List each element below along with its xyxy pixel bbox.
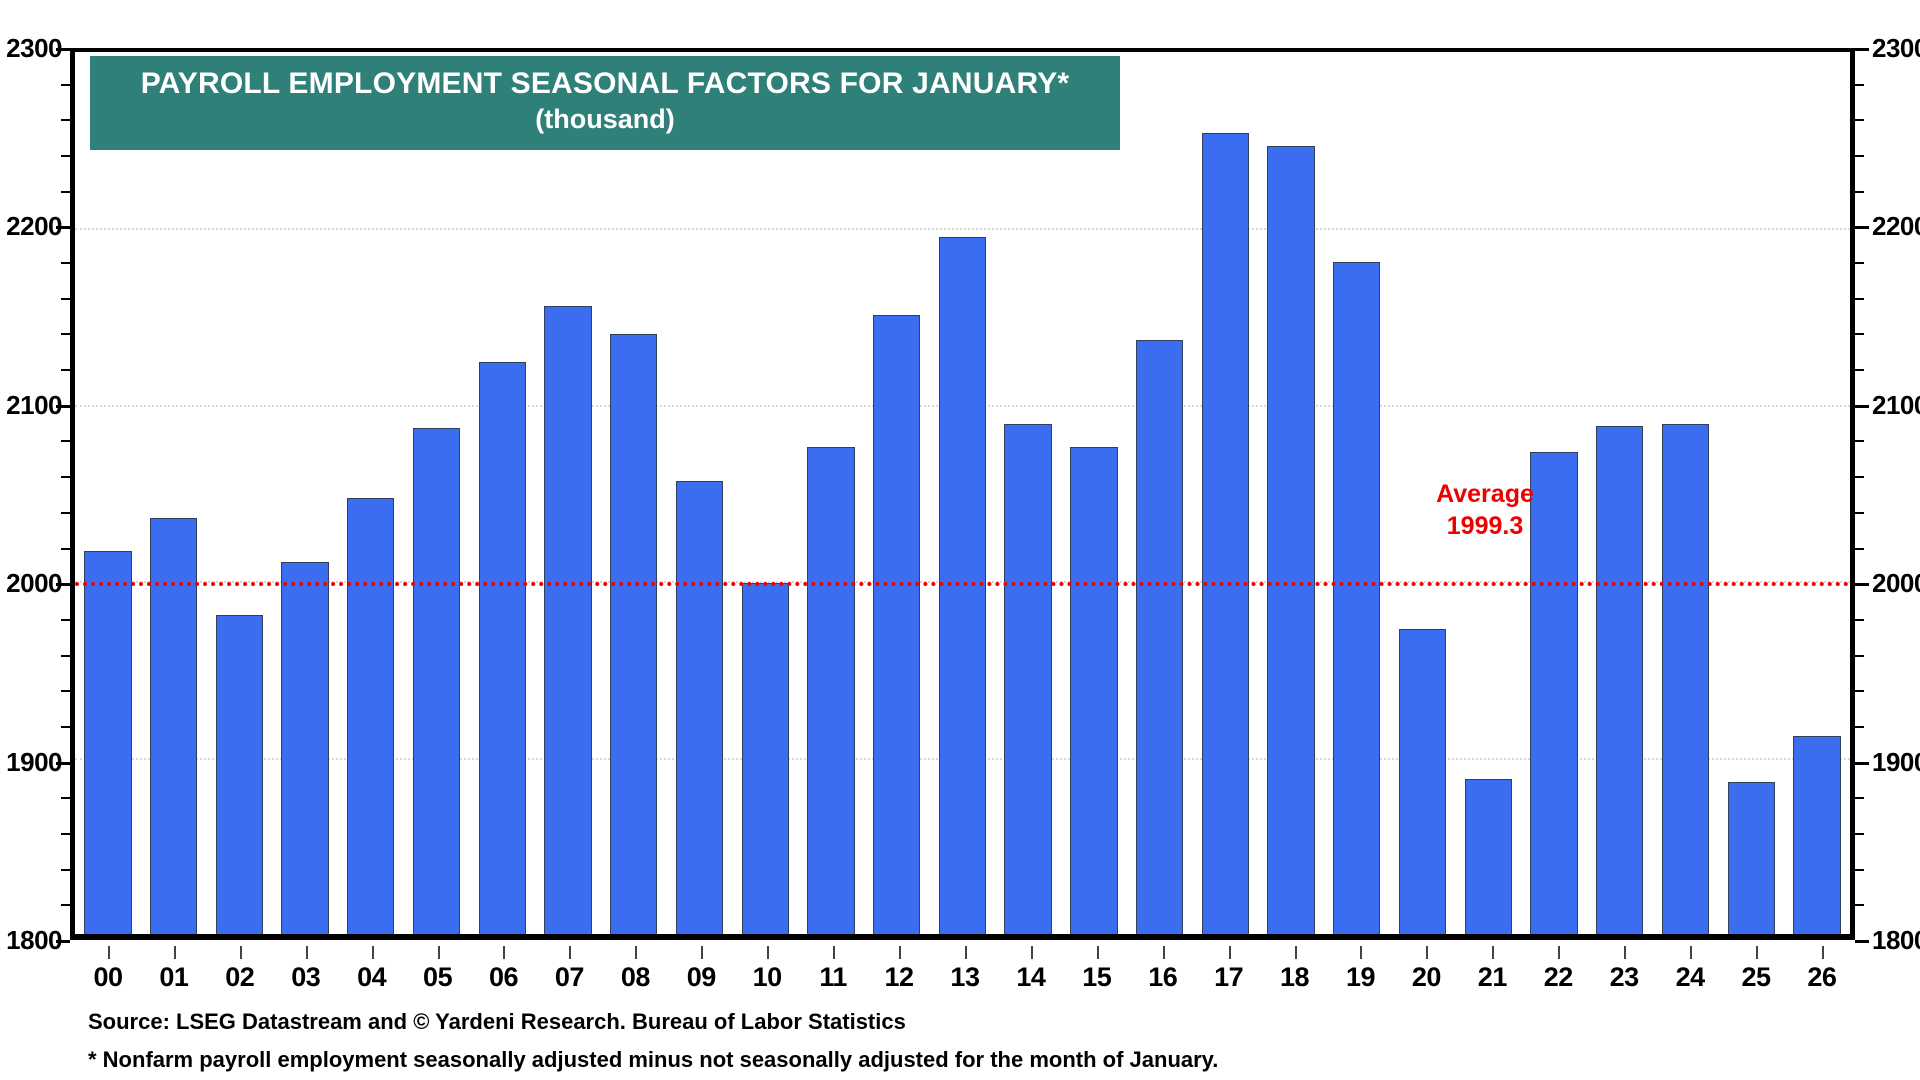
y-axis-minor-tick <box>1855 369 1864 371</box>
y-axis-label-right: 1900 <box>1872 749 1920 775</box>
y-axis-minor-tick <box>1855 833 1864 835</box>
y-axis-minor-tick <box>1855 476 1864 478</box>
x-axis-tick <box>899 946 901 959</box>
y-axis-minor-tick <box>1855 869 1864 871</box>
x-axis-label: 22 <box>1525 962 1591 993</box>
bar[interactable] <box>544 306 591 934</box>
y-axis-minor-tick <box>1855 512 1864 514</box>
bar-slot <box>930 52 996 934</box>
x-axis-slot: 04 <box>339 946 405 992</box>
y-axis-minor-tick <box>1855 440 1864 442</box>
bar-slot <box>141 52 207 934</box>
x-axis-tick <box>569 946 571 959</box>
bar-slot <box>338 52 404 934</box>
y-axis-minor-tick <box>61 298 70 300</box>
x-axis-label: 04 <box>339 962 405 993</box>
y-axis-minor-tick <box>1855 155 1864 157</box>
bar-slot <box>732 52 798 934</box>
x-axis-label: 07 <box>536 962 602 993</box>
x-axis-tick <box>1558 946 1560 959</box>
y-axis-minor-tick <box>61 512 70 514</box>
x-axis-tick <box>108 946 110 959</box>
y-axis-minor-tick <box>1855 548 1864 550</box>
x-axis-label: 18 <box>1262 962 1328 993</box>
x-axis-tick <box>240 946 242 959</box>
y-axis-tick <box>1855 405 1869 408</box>
bar[interactable] <box>1070 447 1117 934</box>
x-axis-label: 20 <box>1393 962 1459 993</box>
x-axis-label: 01 <box>141 962 207 993</box>
average-line <box>75 582 1850 586</box>
y-axis-label-left: 1900 <box>0 749 62 775</box>
x-axis-tick <box>1097 946 1099 959</box>
bar[interactable] <box>281 562 328 934</box>
bar-slot <box>1061 52 1127 934</box>
x-axis-slot: 14 <box>998 946 1064 992</box>
x-axis-tick <box>1163 946 1165 959</box>
chart-page: 1800180019001900200020002100210022002200… <box>0 0 1920 1080</box>
y-axis-label-left: 2200 <box>0 213 62 239</box>
x-axis-slot: 09 <box>668 946 734 992</box>
bar[interactable] <box>1202 133 1249 934</box>
x-axis-slot: 02 <box>207 946 273 992</box>
chart-subtitle: (thousand) <box>90 103 1120 137</box>
y-axis-minor-tick <box>1855 619 1864 621</box>
x-axis-tick <box>1690 946 1692 959</box>
y-axis-label-right: 2200 <box>1872 213 1920 239</box>
average-annotation-label: Average <box>1395 478 1575 510</box>
y-axis-minor-tick <box>61 904 70 906</box>
x-axis-label: 24 <box>1657 962 1723 993</box>
x-axis-label: 12 <box>866 962 932 993</box>
bar-slot <box>667 52 733 934</box>
x-axis-label: 14 <box>998 962 1064 993</box>
y-axis-tick <box>1855 762 1869 765</box>
plot-area <box>70 48 1855 940</box>
y-axis-minor-tick <box>1855 726 1864 728</box>
bar-slot <box>1784 52 1850 934</box>
x-axis-tick <box>1492 946 1494 959</box>
bar[interactable] <box>347 498 394 934</box>
x-axis-slot: 03 <box>273 946 339 992</box>
bar[interactable] <box>1465 779 1512 934</box>
x-axis-slot: 24 <box>1657 946 1723 992</box>
bar-slot <box>1587 52 1653 934</box>
x-axis-tick <box>174 946 176 959</box>
bar-slot <box>1718 52 1784 934</box>
x-axis-label: 02 <box>207 962 273 993</box>
x-axis-tick <box>1295 946 1297 959</box>
y-axis-minor-tick <box>1855 690 1864 692</box>
average-annotation: Average 1999.3 <box>1395 478 1575 542</box>
chart-title: PAYROLL EMPLOYMENT SEASONAL FACTORS FOR … <box>90 65 1120 103</box>
bar[interactable] <box>150 518 197 934</box>
x-axis-slot: 17 <box>1196 946 1262 992</box>
method-note: * Nonfarm payroll employment seasonally … <box>88 1041 1218 1079</box>
x-axis-tick <box>965 946 967 959</box>
y-axis-label-right: 2300 <box>1872 35 1920 61</box>
bar[interactable] <box>610 334 657 934</box>
bar-slot <box>1258 52 1324 934</box>
y-axis-tick <box>56 226 70 229</box>
y-axis-minor-tick <box>1855 298 1864 300</box>
y-axis-tick <box>1855 940 1869 943</box>
x-axis: 0001020304050607080910111213141516171819… <box>75 946 1855 992</box>
x-axis-slot: 15 <box>1064 946 1130 992</box>
bar-slot <box>206 52 272 934</box>
y-axis-minor-tick <box>61 869 70 871</box>
bar[interactable] <box>1793 736 1840 934</box>
y-axis-minor-tick <box>61 655 70 657</box>
y-axis-minor-tick <box>61 333 70 335</box>
y-axis-tick <box>56 583 70 586</box>
y-axis-minor-tick <box>61 726 70 728</box>
x-axis-tick <box>306 946 308 959</box>
x-axis-slot: 06 <box>471 946 537 992</box>
x-axis-tick <box>833 946 835 959</box>
x-axis-label: 15 <box>1064 962 1130 993</box>
x-axis-label: 05 <box>405 962 471 993</box>
bar-slot <box>272 52 338 934</box>
y-axis-minor-tick <box>61 690 70 692</box>
bar[interactable] <box>1399 629 1446 934</box>
x-axis-label: 08 <box>602 962 668 993</box>
x-axis-label: 06 <box>471 962 537 993</box>
x-axis-slot: 13 <box>932 946 998 992</box>
x-axis-label: 00 <box>75 962 141 993</box>
x-axis-slot: 05 <box>405 946 471 992</box>
x-axis-slot: 25 <box>1723 946 1789 992</box>
x-axis-label: 10 <box>734 962 800 993</box>
x-axis-slot: 21 <box>1459 946 1525 992</box>
y-axis-minor-tick <box>61 440 70 442</box>
bar[interactable] <box>1728 782 1775 934</box>
y-axis-minor-tick <box>61 262 70 264</box>
y-axis-minor-tick <box>1855 655 1864 657</box>
x-axis-slot: 01 <box>141 946 207 992</box>
x-axis-label: 26 <box>1789 962 1855 993</box>
x-axis-slot: 19 <box>1328 946 1394 992</box>
x-axis-tick <box>1426 946 1428 959</box>
y-axis-minor-tick <box>61 84 70 86</box>
average-annotation-value: 1999.3 <box>1395 510 1575 542</box>
x-axis-slot: 26 <box>1789 946 1855 992</box>
bar-slot <box>469 52 535 934</box>
y-axis-tick <box>1855 226 1869 229</box>
x-axis-tick <box>438 946 440 959</box>
y-axis-label-right: 2000 <box>1872 570 1920 596</box>
y-axis-minor-tick <box>61 155 70 157</box>
y-axis-minor-tick <box>1855 904 1864 906</box>
x-axis-tick <box>1229 946 1231 959</box>
x-axis-tick <box>1031 946 1033 959</box>
y-axis-minor-tick <box>1855 262 1864 264</box>
bar-slot <box>404 52 470 934</box>
x-axis-slot: 22 <box>1525 946 1591 992</box>
x-axis-label: 19 <box>1328 962 1394 993</box>
y-axis-tick <box>56 405 70 408</box>
footnotes: Source: LSEG Datastream and © Yardeni Re… <box>88 1003 1218 1079</box>
y-axis-tick <box>1855 48 1869 51</box>
bar[interactable] <box>479 362 526 934</box>
bar[interactable] <box>413 428 460 934</box>
y-axis-minor-tick <box>61 476 70 478</box>
x-axis-label: 17 <box>1196 962 1262 993</box>
y-axis-minor-tick <box>61 369 70 371</box>
bar-slot <box>535 52 601 934</box>
x-axis-slot: 23 <box>1591 946 1657 992</box>
x-axis-slot: 16 <box>1130 946 1196 992</box>
bar-slot <box>798 52 864 934</box>
bar[interactable] <box>742 583 789 934</box>
bar-slot <box>75 52 141 934</box>
x-axis-label: 03 <box>273 962 339 993</box>
plot-inner <box>75 52 1850 934</box>
y-axis-minor-tick <box>1855 191 1864 193</box>
bar[interactable] <box>216 615 263 934</box>
bar-slot <box>1192 52 1258 934</box>
x-axis-slot: 20 <box>1393 946 1459 992</box>
y-axis-minor-tick <box>61 191 70 193</box>
x-axis-tick <box>701 946 703 959</box>
y-axis-tick <box>56 940 70 943</box>
bar[interactable] <box>1333 262 1380 934</box>
bar-slot <box>1653 52 1719 934</box>
x-axis-slot: 07 <box>536 946 602 992</box>
bar[interactable] <box>1136 340 1183 934</box>
x-axis-tick <box>1822 946 1824 959</box>
x-axis-slot: 18 <box>1262 946 1328 992</box>
y-axis-label-left: 2000 <box>0 570 62 596</box>
x-axis-slot: 12 <box>866 946 932 992</box>
y-axis-tick <box>56 762 70 765</box>
bar-slot <box>995 52 1061 934</box>
y-axis-minor-tick <box>1855 797 1864 799</box>
x-axis-label: 11 <box>800 962 866 993</box>
y-axis-minor-tick <box>1855 119 1864 121</box>
x-axis-label: 13 <box>932 962 998 993</box>
y-axis-minor-tick <box>61 619 70 621</box>
x-axis-tick <box>767 946 769 959</box>
x-axis-label: 21 <box>1459 962 1525 993</box>
x-axis-slot: 00 <box>75 946 141 992</box>
y-axis-minor-tick <box>1855 333 1864 335</box>
bar-series <box>75 52 1850 934</box>
bar[interactable] <box>84 551 131 934</box>
x-axis-tick <box>1756 946 1758 959</box>
y-axis-minor-tick <box>61 548 70 550</box>
x-axis-tick <box>635 946 637 959</box>
y-axis-label-left: 1800 <box>0 927 62 953</box>
y-axis-label-left: 2300 <box>0 35 62 61</box>
x-axis-label: 09 <box>668 962 734 993</box>
bar[interactable] <box>873 315 920 934</box>
bar-slot <box>864 52 930 934</box>
bar-slot <box>1324 52 1390 934</box>
bar-slot <box>601 52 667 934</box>
bar[interactable] <box>676 481 723 934</box>
x-axis-slot: 08 <box>602 946 668 992</box>
y-axis-minor-tick <box>1855 84 1864 86</box>
x-axis-tick <box>372 946 374 959</box>
source-note: Source: LSEG Datastream and © Yardeni Re… <box>88 1003 1218 1041</box>
x-axis-label: 23 <box>1591 962 1657 993</box>
y-axis-minor-tick <box>61 797 70 799</box>
y-axis-label-right: 1800 <box>1872 927 1920 953</box>
y-axis-minor-tick <box>61 119 70 121</box>
x-axis-label: 25 <box>1723 962 1789 993</box>
bar-slot <box>1127 52 1193 934</box>
chart-title-banner: PAYROLL EMPLOYMENT SEASONAL FACTORS FOR … <box>90 56 1120 150</box>
y-axis-label-right: 2100 <box>1872 392 1920 418</box>
y-axis-label-left: 2100 <box>0 392 62 418</box>
bar[interactable] <box>807 447 854 934</box>
bar[interactable] <box>1267 146 1314 935</box>
bar[interactable] <box>1004 424 1051 934</box>
x-axis-tick <box>1360 946 1362 959</box>
y-axis-tick <box>1855 583 1869 586</box>
x-axis-tick <box>503 946 505 959</box>
x-axis-slot: 10 <box>734 946 800 992</box>
x-axis-slot: 11 <box>800 946 866 992</box>
x-axis-tick <box>1624 946 1626 959</box>
bar[interactable] <box>1662 424 1709 934</box>
y-axis-tick <box>56 48 70 51</box>
y-axis-minor-tick <box>61 833 70 835</box>
bar[interactable] <box>1596 426 1643 934</box>
x-axis-label: 16 <box>1130 962 1196 993</box>
